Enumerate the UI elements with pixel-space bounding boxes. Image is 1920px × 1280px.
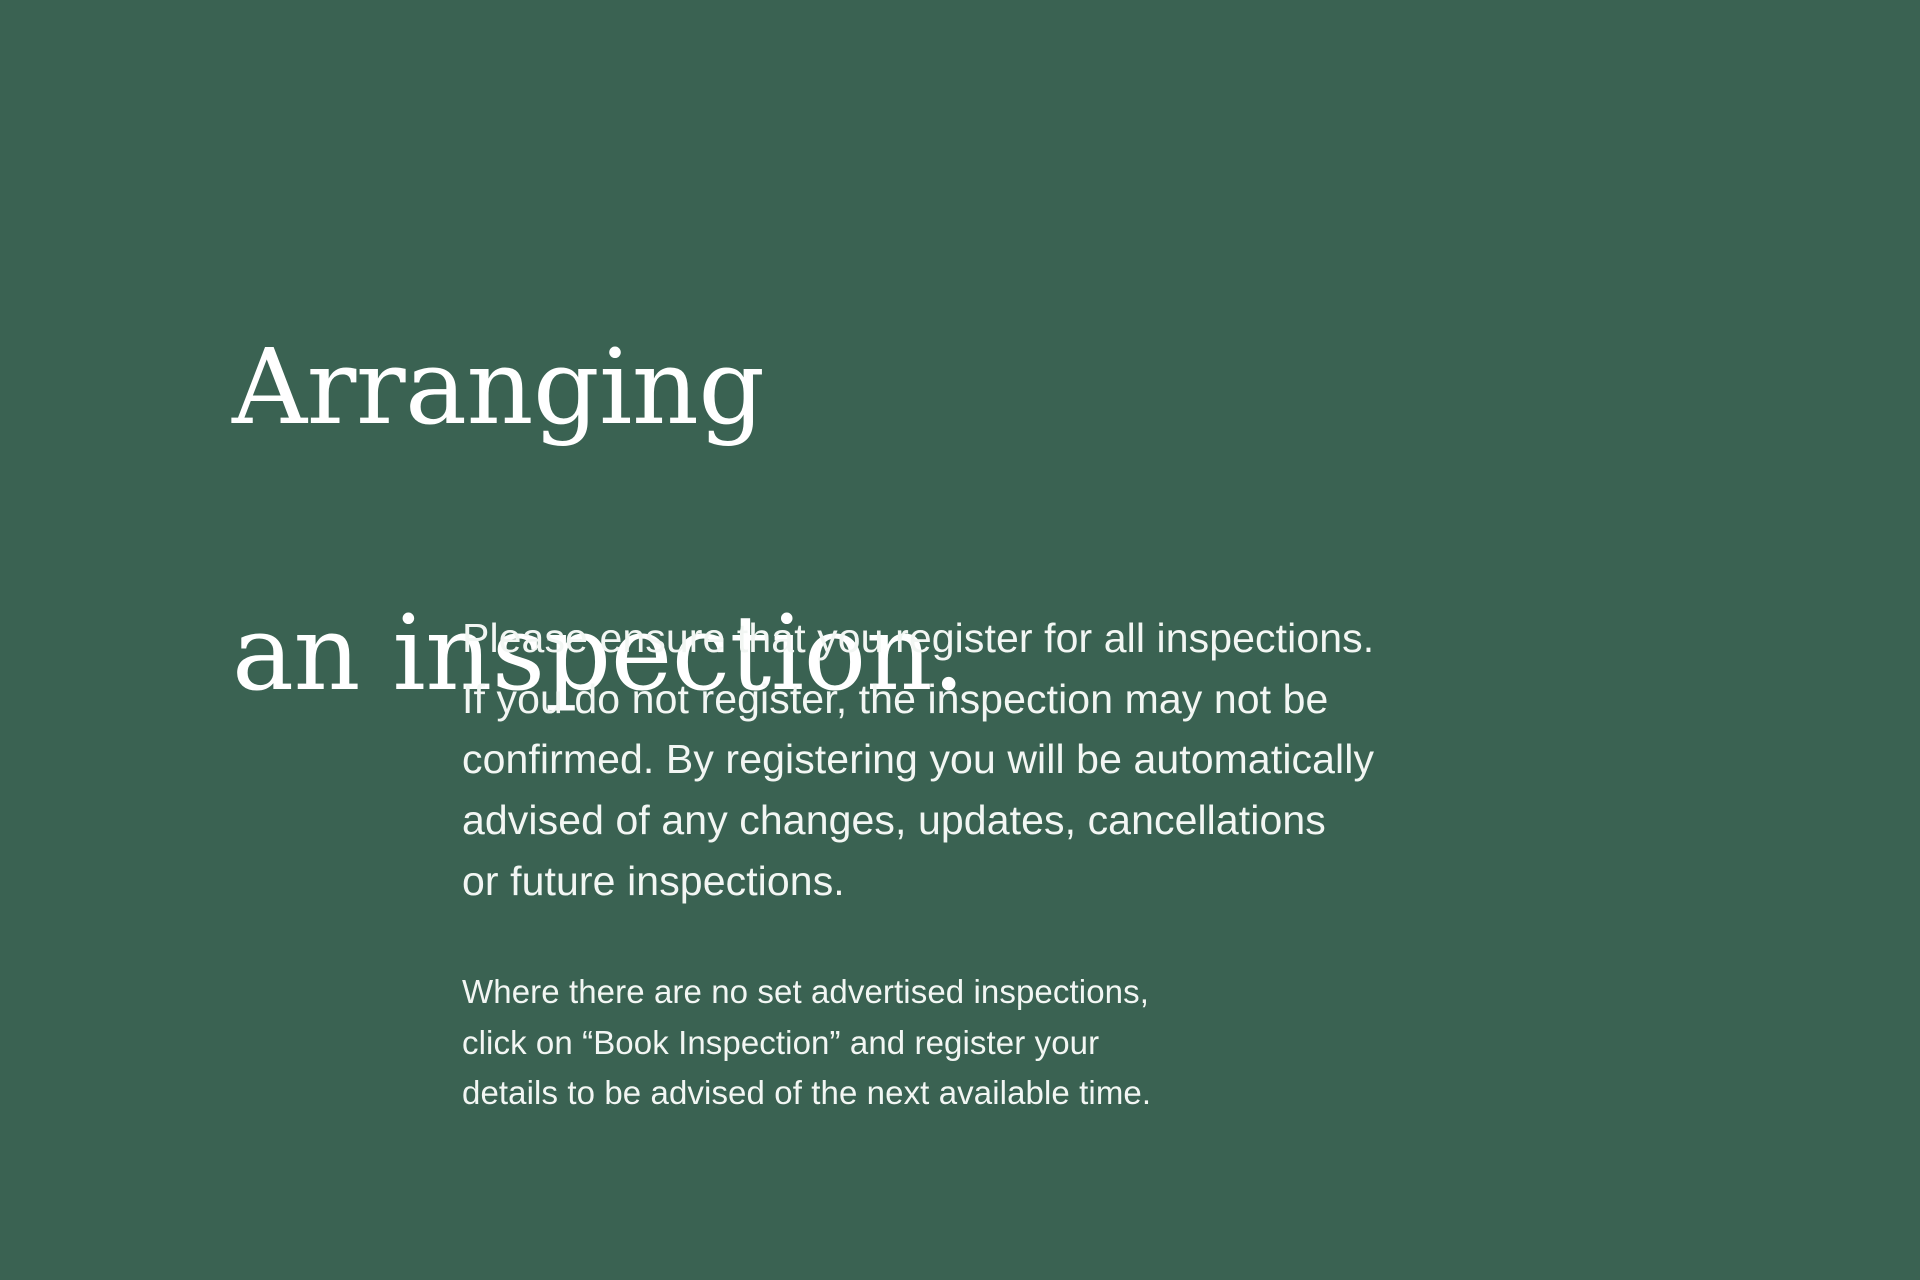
body-copy: Please ensure that you register for all … [462,608,1702,1118]
registration-notice-paragraph: Please ensure that you register for all … [462,608,1702,911]
page-title-line-1: Arranging [232,321,1532,454]
no-advertised-inspections-paragraph: Where there are no set advertised inspec… [462,967,1702,1117]
slide-root: Arranging an inspection. Please ensure t… [0,0,1920,1280]
